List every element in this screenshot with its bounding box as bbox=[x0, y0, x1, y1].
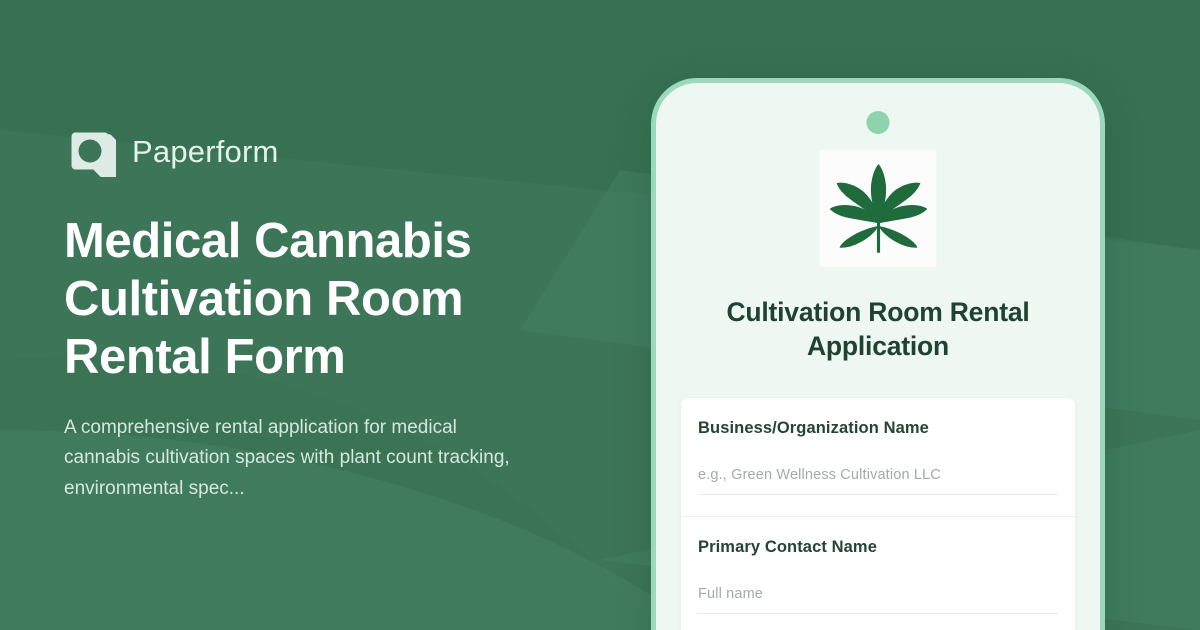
camera-dot-icon bbox=[867, 111, 890, 134]
form-field-business-name: Business/Organization Name e.g., Green W… bbox=[681, 398, 1075, 517]
field-spacer bbox=[698, 614, 1058, 630]
form-card: Business/Organization Name e.g., Green W… bbox=[681, 398, 1075, 630]
form-field-primary-contact: Primary Contact Name Full name bbox=[681, 517, 1075, 630]
form-heading: Cultivation Room Rental Application bbox=[684, 295, 1072, 364]
hero-left-column: Paperform Medical Cannabis Cultivation R… bbox=[64, 0, 624, 630]
paperform-logo-icon bbox=[64, 125, 116, 177]
page-title: Medical Cannabis Cultivation Room Rental… bbox=[64, 213, 544, 386]
form-logo bbox=[820, 150, 937, 267]
phone-mockup: Cultivation Room Rental Application Busi… bbox=[651, 78, 1105, 630]
brand-name: Paperform bbox=[132, 136, 279, 167]
page-description: A comprehensive rental application for m… bbox=[64, 413, 534, 505]
cannabis-leaf-icon bbox=[829, 160, 927, 258]
field-label: Primary Contact Name bbox=[698, 538, 1058, 557]
brand-lockup: Paperform bbox=[64, 125, 624, 177]
business-name-input[interactable]: e.g., Green Wellness Cultivation LLC bbox=[698, 467, 1058, 495]
field-spacer bbox=[698, 495, 1058, 516]
field-label: Business/Organization Name bbox=[698, 419, 1058, 438]
primary-contact-input[interactable]: Full name bbox=[698, 586, 1058, 614]
